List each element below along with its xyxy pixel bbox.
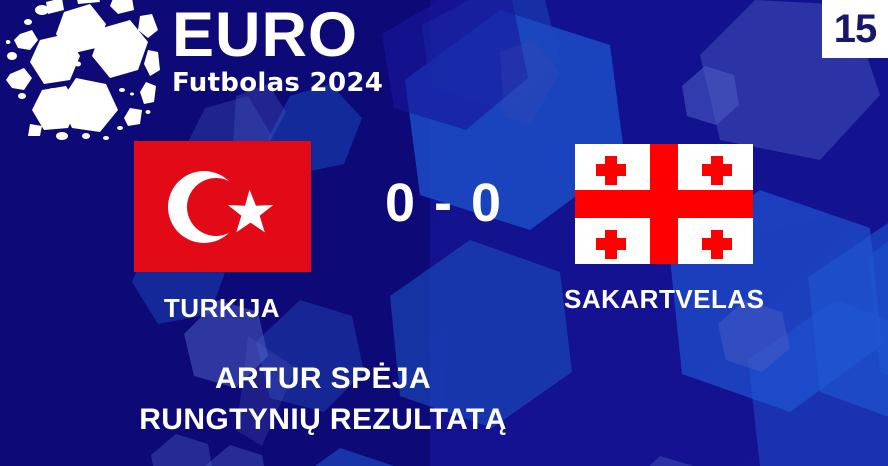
caption-text: ARTUR SPĖJA RUNGTYNIŲ REZULTATĄ <box>0 358 888 440</box>
euro-title: EURO <box>172 4 402 66</box>
home-team-name: TURKIJA <box>122 293 322 323</box>
euro-subtitle: Futbolas 2024 <box>172 68 402 98</box>
caption-line-1: ARTUR SPĖJA <box>0 358 646 399</box>
euro-branding-header: EURO Futbolas 2024 <box>0 0 420 130</box>
round-badge: 15 <box>822 0 888 58</box>
soccer-ball-icon <box>6 0 166 140</box>
away-team-name: SAKARTVELAS <box>564 284 764 314</box>
caption-line-2: RUNGTYNIŲ REZULTATĄ <box>0 399 646 440</box>
match-score: 0 - 0 <box>344 175 544 231</box>
euro-wordmark: EURO Futbolas 2024 <box>172 4 402 98</box>
scoreboard-graphic: EURO Futbolas 2024 15 <box>0 0 888 466</box>
georgia-flag-icon <box>575 144 753 264</box>
turkey-flag-icon <box>134 141 311 272</box>
round-badge-number: 15 <box>834 9 877 49</box>
